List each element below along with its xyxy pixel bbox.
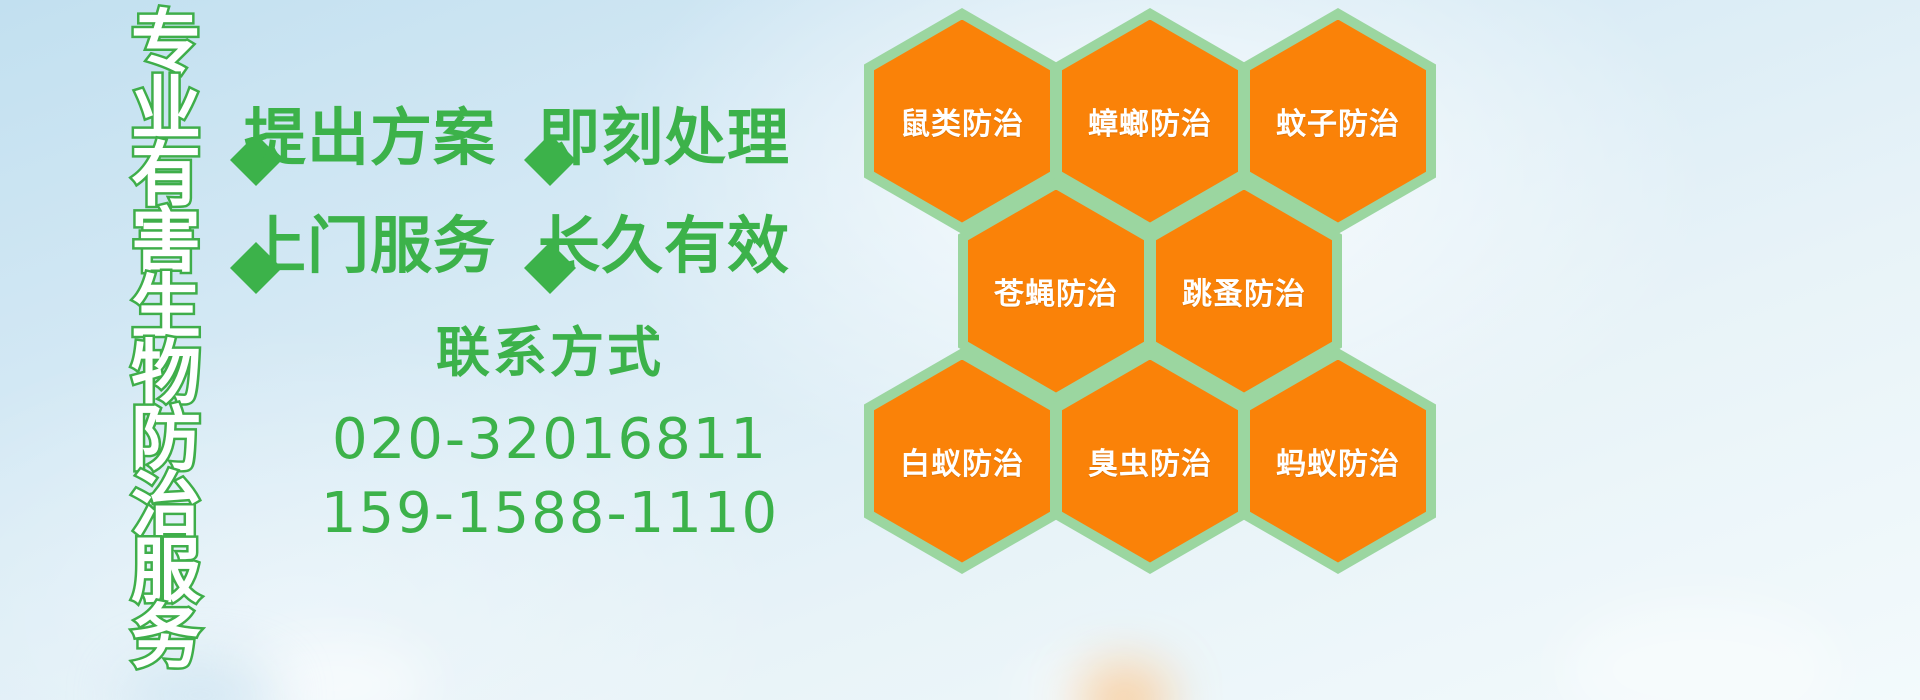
service-label: 鼠类防治 xyxy=(900,99,1024,143)
vertical-headline-char: 治 xyxy=(131,472,201,538)
vertical-headline-char: 专 xyxy=(131,10,201,76)
service-label: 蚂蚁防治 xyxy=(1276,439,1400,483)
feature-item: 上门服务 xyxy=(228,195,496,285)
service-label: 臭虫防治 xyxy=(1088,439,1212,483)
decorative-blob xyxy=(1560,600,1840,700)
service-hexagon-grid: 鼠类防治 蟑螂防治 蚊子防治 苍蝇防治 跳蚤防治 白蚁防治 xyxy=(856,0,1466,560)
hex-inner: 鼠类防治 xyxy=(874,20,1050,223)
hex-inner: 苍蝇防治 xyxy=(968,190,1144,393)
hex-inner: 蚊子防治 xyxy=(1250,20,1426,223)
feature-row: 上门服务 长久有效 xyxy=(228,186,868,294)
vertical-headline-char: 服 xyxy=(131,538,201,604)
feature-label: 提出方案 xyxy=(244,87,496,177)
vertical-headline-char: 防 xyxy=(131,406,201,472)
service-label: 苍蝇防治 xyxy=(994,269,1118,313)
service-label: 蚊子防治 xyxy=(1276,99,1400,143)
decorative-blob xyxy=(1080,665,1170,700)
service-label: 蟑螂防治 xyxy=(1088,99,1212,143)
phone-mobile[interactable]: 159-1588-1110 xyxy=(300,477,800,551)
feature-label: 长久有效 xyxy=(538,195,790,285)
decorative-blob xyxy=(240,640,430,700)
promo-banner: 专 业 有 害 生 物 防 治 服 务 提出方案 即刻处理 xyxy=(0,0,1920,700)
vertical-headline-char: 害 xyxy=(131,208,201,274)
phone-landline[interactable]: 020-32016811 xyxy=(300,403,800,477)
hex-inner: 臭虫防治 xyxy=(1062,360,1238,563)
contact-block: 联系方式 020-32016811 159-1588-1110 xyxy=(300,308,800,551)
vertical-headline-char: 物 xyxy=(131,340,201,406)
hex-inner: 蚂蚁防治 xyxy=(1250,360,1426,563)
feature-item: 长久有效 xyxy=(522,195,790,285)
feature-item: 即刻处理 xyxy=(522,87,790,177)
feature-item: 提出方案 xyxy=(228,87,496,177)
vertical-headline-char: 有 xyxy=(131,142,201,208)
vertical-headline-char: 生 xyxy=(131,274,201,340)
contact-heading: 联系方式 xyxy=(300,308,800,387)
feature-list: 提出方案 即刻处理 上门服务 长久有效 xyxy=(228,78,868,294)
vertical-headline-char: 业 xyxy=(131,76,201,142)
feature-label: 即刻处理 xyxy=(538,87,790,177)
hex-inner: 跳蚤防治 xyxy=(1156,190,1332,393)
service-label: 白蚁防治 xyxy=(900,439,1024,483)
decorative-blob xyxy=(1020,655,1170,700)
hex-inner: 白蚁防治 xyxy=(874,360,1050,563)
vertical-headline: 专 业 有 害 生 物 防 治 服 务 xyxy=(112,10,220,680)
hex-inner: 蟑螂防治 xyxy=(1062,20,1238,223)
service-label: 跳蚤防治 xyxy=(1182,269,1306,313)
feature-row: 提出方案 即刻处理 xyxy=(228,78,868,186)
vertical-headline-char: 务 xyxy=(131,604,201,670)
feature-label: 上门服务 xyxy=(244,195,496,285)
